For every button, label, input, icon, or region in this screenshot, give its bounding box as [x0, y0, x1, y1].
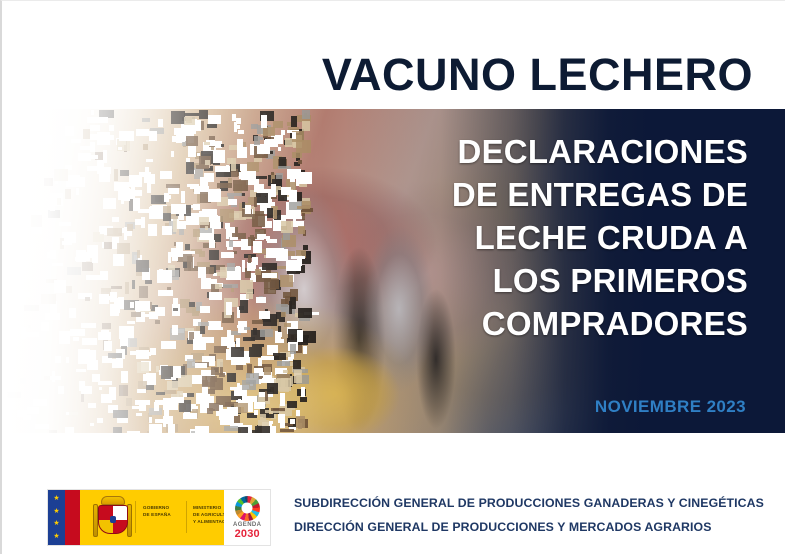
agenda-2030-badge: AGENDA 2030	[224, 490, 270, 545]
logo-divider	[135, 501, 136, 533]
hero-heading-line-2: DE ENTREGAS DE	[448, 174, 748, 217]
hero-heading-line-5: COMPRADORES	[448, 303, 748, 346]
hero-banner: DECLARACIONESDE ENTREGAS DELECHE CRUDA A…	[4, 109, 785, 433]
agenda-label: AGENDA	[233, 522, 261, 528]
spain-flag-band: ★ ★ ★ ★	[48, 490, 224, 545]
eu-star-icon: ★	[53, 508, 59, 515]
crown-icon	[101, 496, 125, 505]
issuing-department-text: SUBDIRECCIÓN GENERAL DE PRODUCCIONES GAN…	[294, 492, 764, 540]
gobierno-de-espana-label: GOBIERNODE ESPAÑA	[143, 504, 183, 518]
footer-line-2: DIRECCIÓN GENERAL DE PRODUCCIONES Y MERC…	[294, 516, 764, 540]
hero-heading: DECLARACIONESDE ENTREGAS DELECHE CRUDA A…	[448, 131, 748, 345]
shield-icon	[98, 505, 128, 534]
eu-stripe: ★ ★ ★ ★	[48, 490, 65, 545]
eu-star-icon: ★	[53, 520, 59, 527]
footer: ★ ★ ★ ★	[2, 479, 785, 554]
agenda-year-label: 2030	[235, 529, 260, 540]
eu-star-icon: ★	[53, 533, 59, 540]
flag-red-stripe	[65, 490, 80, 545]
publication-date: NOVIEMBRE 2023	[595, 397, 746, 417]
cover-page: VACUNO LECHERO DECLARACIONESDE ENTREGAS …	[0, 0, 785, 554]
logo-divider	[186, 501, 187, 533]
footer-line-1: SUBDIRECCIÓN GENERAL DE PRODUCCIONES GAN…	[294, 492, 764, 516]
government-logo: ★ ★ ★ ★	[47, 489, 271, 546]
hero-heading-line-1: DECLARACIONES	[448, 131, 748, 174]
page-title: VACUNO LECHERO	[42, 51, 753, 98]
hero-heading-line-3: LECHE CRUDA A	[448, 217, 748, 260]
eu-star-icon: ★	[53, 495, 59, 502]
hero-heading-line-4: LOS PRIMEROS	[448, 260, 748, 303]
sdg-wheel-icon	[235, 496, 260, 521]
spain-coat-of-arms-icon	[92, 496, 134, 540]
